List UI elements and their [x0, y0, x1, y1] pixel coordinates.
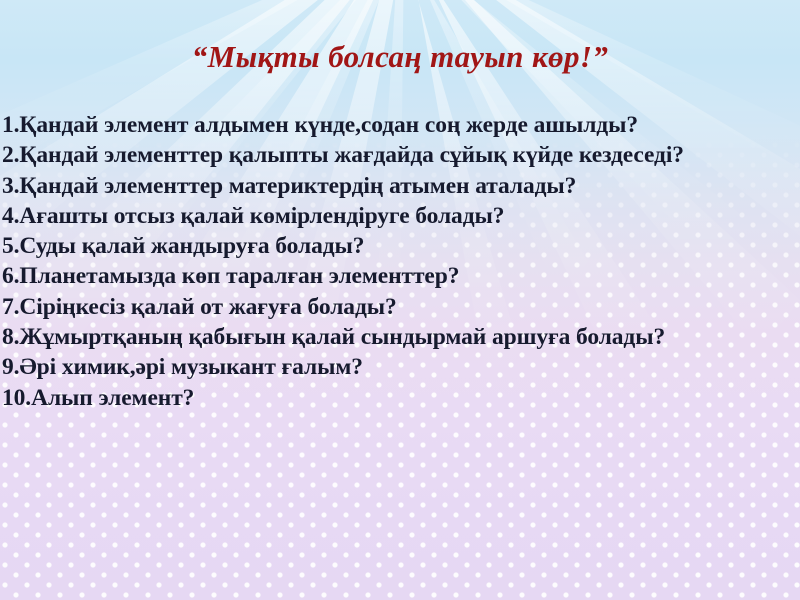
question-item-10: 10.Алып элемент? [2, 383, 798, 413]
question-item-9: 9.Әрі химик,әрі музыкант ғалым? [2, 352, 798, 382]
question-item-1: 1.Қандай элемент алдымен күнде,содан соң… [2, 110, 798, 140]
question-item-6: 6.Планетамызда көп таралған элементтер? [2, 261, 798, 291]
question-item-3: 3.Қандай элементтер материктердің атымен… [2, 171, 798, 201]
question-list: 1.Қандай элемент алдымен күнде,содан соң… [2, 110, 798, 413]
question-item-8: 8.Жұмыртқаның қабығын қалай сындырмай ар… [2, 322, 798, 352]
question-item-4: 4.Ағашты отсыз қалай көмірлендіруге бола… [2, 201, 798, 231]
question-item-5: 5.Суды қалай жандыруға болады? [2, 231, 798, 261]
presentation-slide: “Мықты болсаң тауып көр!” 1.Қандай элеме… [0, 0, 800, 600]
slide-content: “Мықты болсаң тауып көр!” 1.Қандай элеме… [0, 0, 800, 600]
slide-title: “Мықты болсаң тауып көр!” [0, 38, 800, 76]
question-item-2: 2.Қандай элементтер қалыпты жағдайда сұй… [2, 140, 798, 170]
question-item-7: 7.Сіріңкесіз қалай от жағуға болады? [2, 292, 798, 322]
